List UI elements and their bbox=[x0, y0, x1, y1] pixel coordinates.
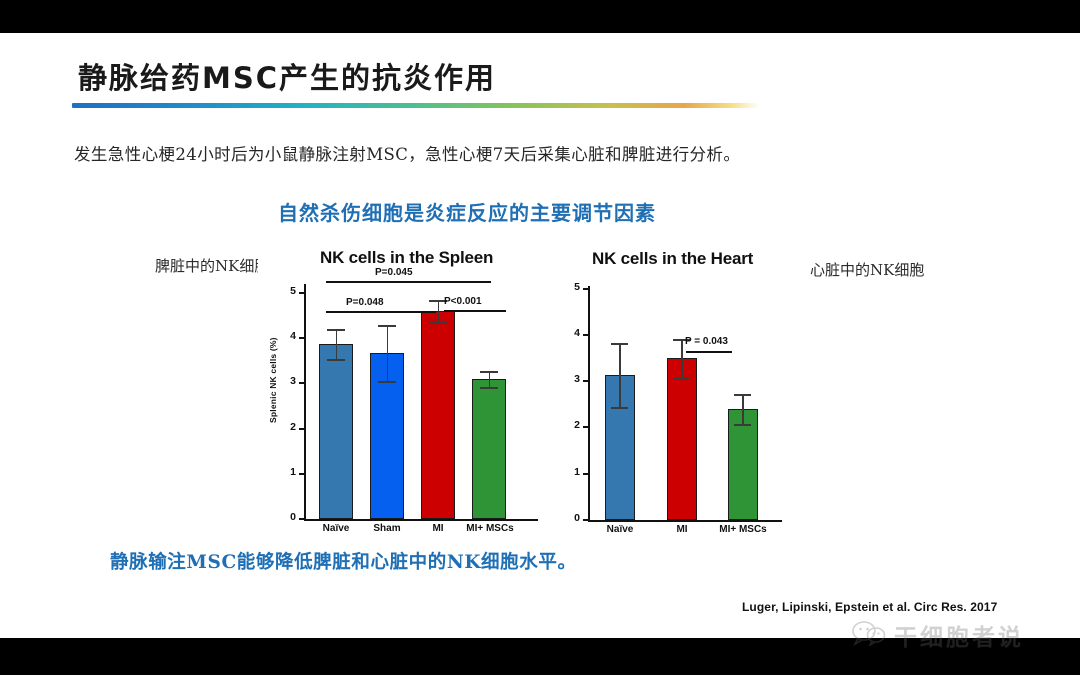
errorbar-cap-bottom-heart-mi-mscs bbox=[734, 424, 751, 426]
x-ticklabel-heart-mi-mscs: MI+ MSCs bbox=[712, 524, 774, 535]
y-tick-1 bbox=[299, 473, 304, 475]
bar-spleen-mi-mscs bbox=[472, 379, 506, 519]
errorbar-heart-mi bbox=[681, 339, 683, 378]
errorbar-cap-top-spleen-mi-mscs bbox=[480, 371, 498, 373]
y-ticklabel-heart-0: 0 bbox=[560, 512, 580, 524]
x-ticklabel-spleen-naive: Naïve bbox=[307, 523, 365, 534]
errorbar-cap-top-spleen-sham bbox=[378, 325, 396, 327]
y-ticklabel-2: 2 bbox=[274, 421, 296, 433]
y-tick-0 bbox=[299, 518, 304, 520]
errorbar-spleen-mi bbox=[438, 300, 440, 322]
y-ticklabel-1: 1 bbox=[274, 466, 296, 478]
y-axis-heart bbox=[588, 286, 590, 522]
y-tick-heart-0 bbox=[583, 519, 588, 521]
x-ticklabel-spleen-mi-mscs: MI+ MSCs bbox=[459, 523, 521, 534]
y-ticklabel-5: 5 bbox=[274, 285, 296, 297]
errorbar-cap-bottom-heart-mi bbox=[673, 378, 690, 380]
x-ticklabel-spleen-sham: Sham bbox=[358, 523, 416, 534]
citation-text: Luger, Lipinski, Epstein et al. Circ Res… bbox=[742, 600, 997, 614]
errorbar-cap-bottom-spleen-naive bbox=[327, 359, 345, 361]
watermark-label: 干细胞者说 bbox=[894, 618, 1024, 652]
y-ticklabel-heart-4: 4 bbox=[560, 327, 580, 339]
caption-spleen: 脾脏中的NK细胞 bbox=[155, 255, 269, 276]
errorbar-spleen-naive bbox=[336, 329, 338, 359]
y-tick-2 bbox=[299, 428, 304, 430]
bar-heart-mi-mscs bbox=[728, 409, 758, 520]
y-tick-heart-4 bbox=[583, 334, 588, 336]
y-tick-heart-5 bbox=[583, 288, 588, 290]
errorbar-heart-mi-mscs bbox=[742, 394, 744, 424]
x-axis-heart bbox=[588, 520, 782, 522]
sig-label-mi-mimscs: P<0.001 bbox=[444, 296, 482, 307]
section-heading: 自然杀伤细胞是炎症反应的主要调节因素 bbox=[278, 197, 656, 226]
watermark: 干细胞者说 bbox=[852, 618, 1024, 652]
chart-nk-cells-heart: NK cells in the Heart 0 1 2 3 4 5 Naïv bbox=[552, 248, 802, 516]
errorbar-cap-bottom-spleen-mi bbox=[429, 322, 447, 324]
errorbar-cap-bottom-spleen-mi-mscs bbox=[480, 387, 498, 389]
errorbar-cap-bottom-spleen-sham bbox=[378, 381, 396, 383]
sig-label-naive-mimscs: P=0.045 bbox=[375, 267, 413, 278]
wechat-icon bbox=[852, 620, 886, 651]
lead-paragraph: 发生急性心梗24小时后为小鼠静脉注射MSC，急性心梗7天后采集心脏和脾脏进行分析… bbox=[74, 141, 740, 165]
sig-line-naive-mi bbox=[326, 311, 436, 313]
chart-nk-cells-spleen: NK cells in the Spleen Splenic NK cells … bbox=[258, 248, 540, 516]
y-tick-3 bbox=[299, 382, 304, 384]
page-title: 静脉给药MSC产生的抗炎作用 bbox=[78, 55, 496, 97]
y-tick-4 bbox=[299, 337, 304, 339]
conclusion-text: 静脉输注MSC能够降低脾脏和心脏中的NK细胞水平。 bbox=[110, 548, 577, 574]
y-tick-heart-1 bbox=[583, 473, 588, 475]
y-tick-5 bbox=[299, 292, 304, 294]
y-axis-spleen bbox=[304, 284, 306, 521]
x-ticklabel-heart-naive: Naïve bbox=[591, 524, 649, 535]
sig-label-heart-mi-mimscs: P = 0.043 bbox=[685, 336, 728, 347]
y-ticklabel-3: 3 bbox=[274, 375, 296, 387]
sig-line-heart-mi-mimscs bbox=[686, 351, 732, 353]
errorbar-cap-top-heart-naive bbox=[611, 343, 628, 345]
sig-line-naive-mimscs bbox=[326, 281, 491, 283]
y-ticklabel-heart-1: 1 bbox=[560, 466, 580, 478]
bar-heart-mi bbox=[667, 358, 697, 520]
y-tick-heart-2 bbox=[583, 426, 588, 428]
chart-title-heart: NK cells in the Heart bbox=[592, 249, 753, 269]
errorbar-cap-top-spleen-naive bbox=[327, 329, 345, 331]
errorbar-heart-naive bbox=[619, 343, 621, 407]
x-ticklabel-heart-mi: MI bbox=[653, 524, 711, 535]
chart-title-spleen: NK cells in the Spleen bbox=[320, 248, 493, 268]
y-ticklabel-heart-5: 5 bbox=[560, 281, 580, 293]
letterbox-top bbox=[0, 0, 1080, 33]
y-tick-heart-3 bbox=[583, 380, 588, 382]
bar-spleen-mi bbox=[421, 311, 455, 519]
slide-canvas: 静脉给药MSC产生的抗炎作用 发生急性心梗24小时后为小鼠静脉注射MSC，急性心… bbox=[0, 33, 1080, 638]
y-ticklabel-heart-2: 2 bbox=[560, 419, 580, 431]
y-ticklabel-4: 4 bbox=[274, 330, 296, 342]
x-axis-spleen bbox=[304, 519, 538, 521]
presentation-slide: 静脉给药MSC产生的抗炎作用 发生急性心梗24小时后为小鼠静脉注射MSC，急性心… bbox=[0, 0, 1080, 675]
errorbar-cap-bottom-heart-naive bbox=[611, 407, 628, 409]
sig-line-mi-mimscs bbox=[444, 310, 506, 312]
caption-heart: 心脏中的NK细胞 bbox=[810, 259, 924, 280]
errorbar-spleen-sham bbox=[387, 325, 389, 381]
errorbar-spleen-mi-mscs bbox=[489, 371, 491, 387]
sig-label-naive-mi: P=0.048 bbox=[346, 297, 384, 308]
y-ticklabel-0: 0 bbox=[274, 511, 296, 523]
errorbar-cap-top-heart-mi-mscs bbox=[734, 394, 751, 396]
y-ticklabel-heart-3: 3 bbox=[560, 373, 580, 385]
bar-spleen-naive bbox=[319, 344, 353, 519]
title-underline-gradient bbox=[72, 103, 760, 108]
